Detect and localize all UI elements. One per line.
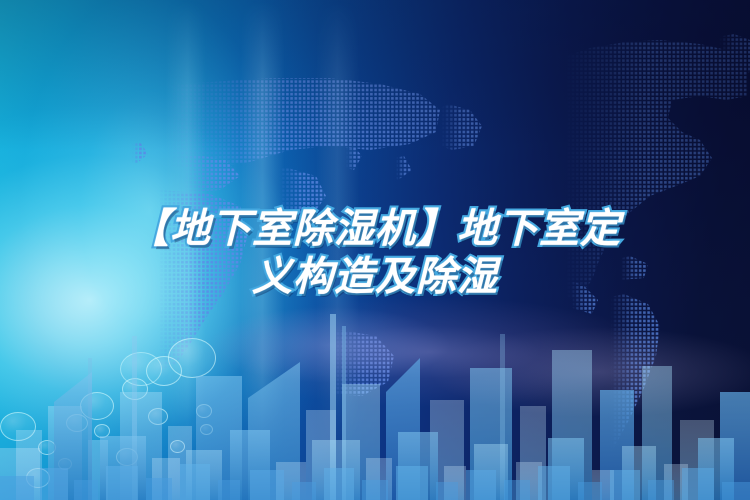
banner-image: 【地下室除湿机】地下室定 义构造及除湿 bbox=[0, 0, 750, 500]
banner-title: 【地下室除湿机】地下室定 义构造及除湿 bbox=[0, 205, 750, 301]
city-skyline bbox=[0, 280, 750, 500]
banner-title-line-2: 义构造及除湿 bbox=[0, 253, 750, 301]
banner-title-line-1: 【地下室除湿机】地下室定 bbox=[0, 205, 750, 253]
